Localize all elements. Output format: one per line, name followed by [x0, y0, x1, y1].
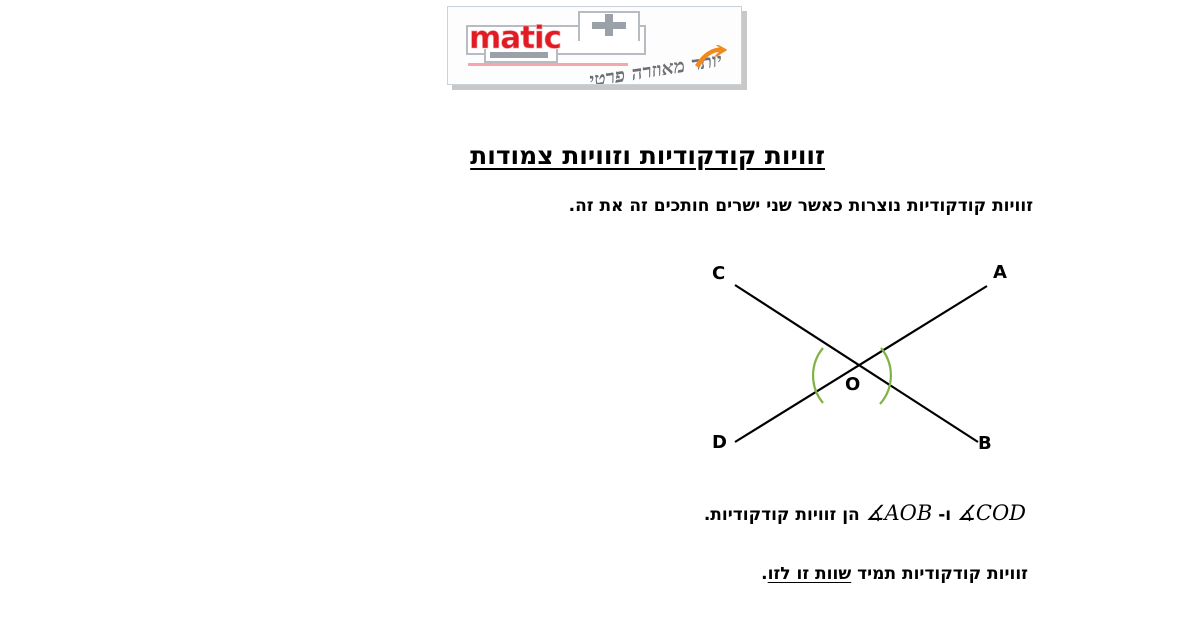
diagram-label-O: O [845, 376, 860, 394]
logo-wordmark: matic [469, 23, 641, 54]
page-title-text: זוויות קודקודיות וזוויות צמודות [470, 141, 825, 170]
note-conjunction: ו- [938, 505, 951, 525]
angle-arc-COD [813, 348, 823, 403]
arrow-right-icon [695, 45, 727, 69]
logo-card: matic יותר מאוזרה פרטי [447, 6, 742, 85]
note-equal-underlined: שוות זו לזו [768, 564, 852, 584]
diagram-label-C: C [712, 265, 725, 283]
note-vertical-angles: ∡COD ו- ∡AOB הן זוויות קודקודיות. [0, 500, 1026, 528]
logo-banner: matic יותר מאוזרה פרטי [447, 6, 747, 88]
diagram-label-B: B [978, 435, 992, 453]
note-equal-prefix: זוויות קודקודיות תמיד [857, 564, 1028, 584]
angle-arc-AOB [880, 348, 891, 404]
vertical-angles-diagram: C A D B O [690, 252, 1030, 467]
note-rest-text: הן זוויות קודקודיות. [704, 505, 860, 525]
diagram-label-D: D [712, 434, 727, 452]
logo-underline [468, 63, 628, 66]
note-angles-equal: זוויות קודקודיות תמיד שוות זו לזו. [0, 561, 1028, 587]
angle-expression-aob: ∡AOB [866, 500, 933, 526]
logo-mark: matic [466, 11, 652, 63]
angle-expression-cod: ∡COD [957, 500, 1026, 526]
intro-paragraph: זוויות קודקודיות נוצרות כאשר שני ישרים ח… [0, 194, 1033, 218]
diagram-label-A: A [993, 264, 1007, 282]
page-title: זוויות קודקודיות וזוויות צמודות [0, 141, 1040, 171]
